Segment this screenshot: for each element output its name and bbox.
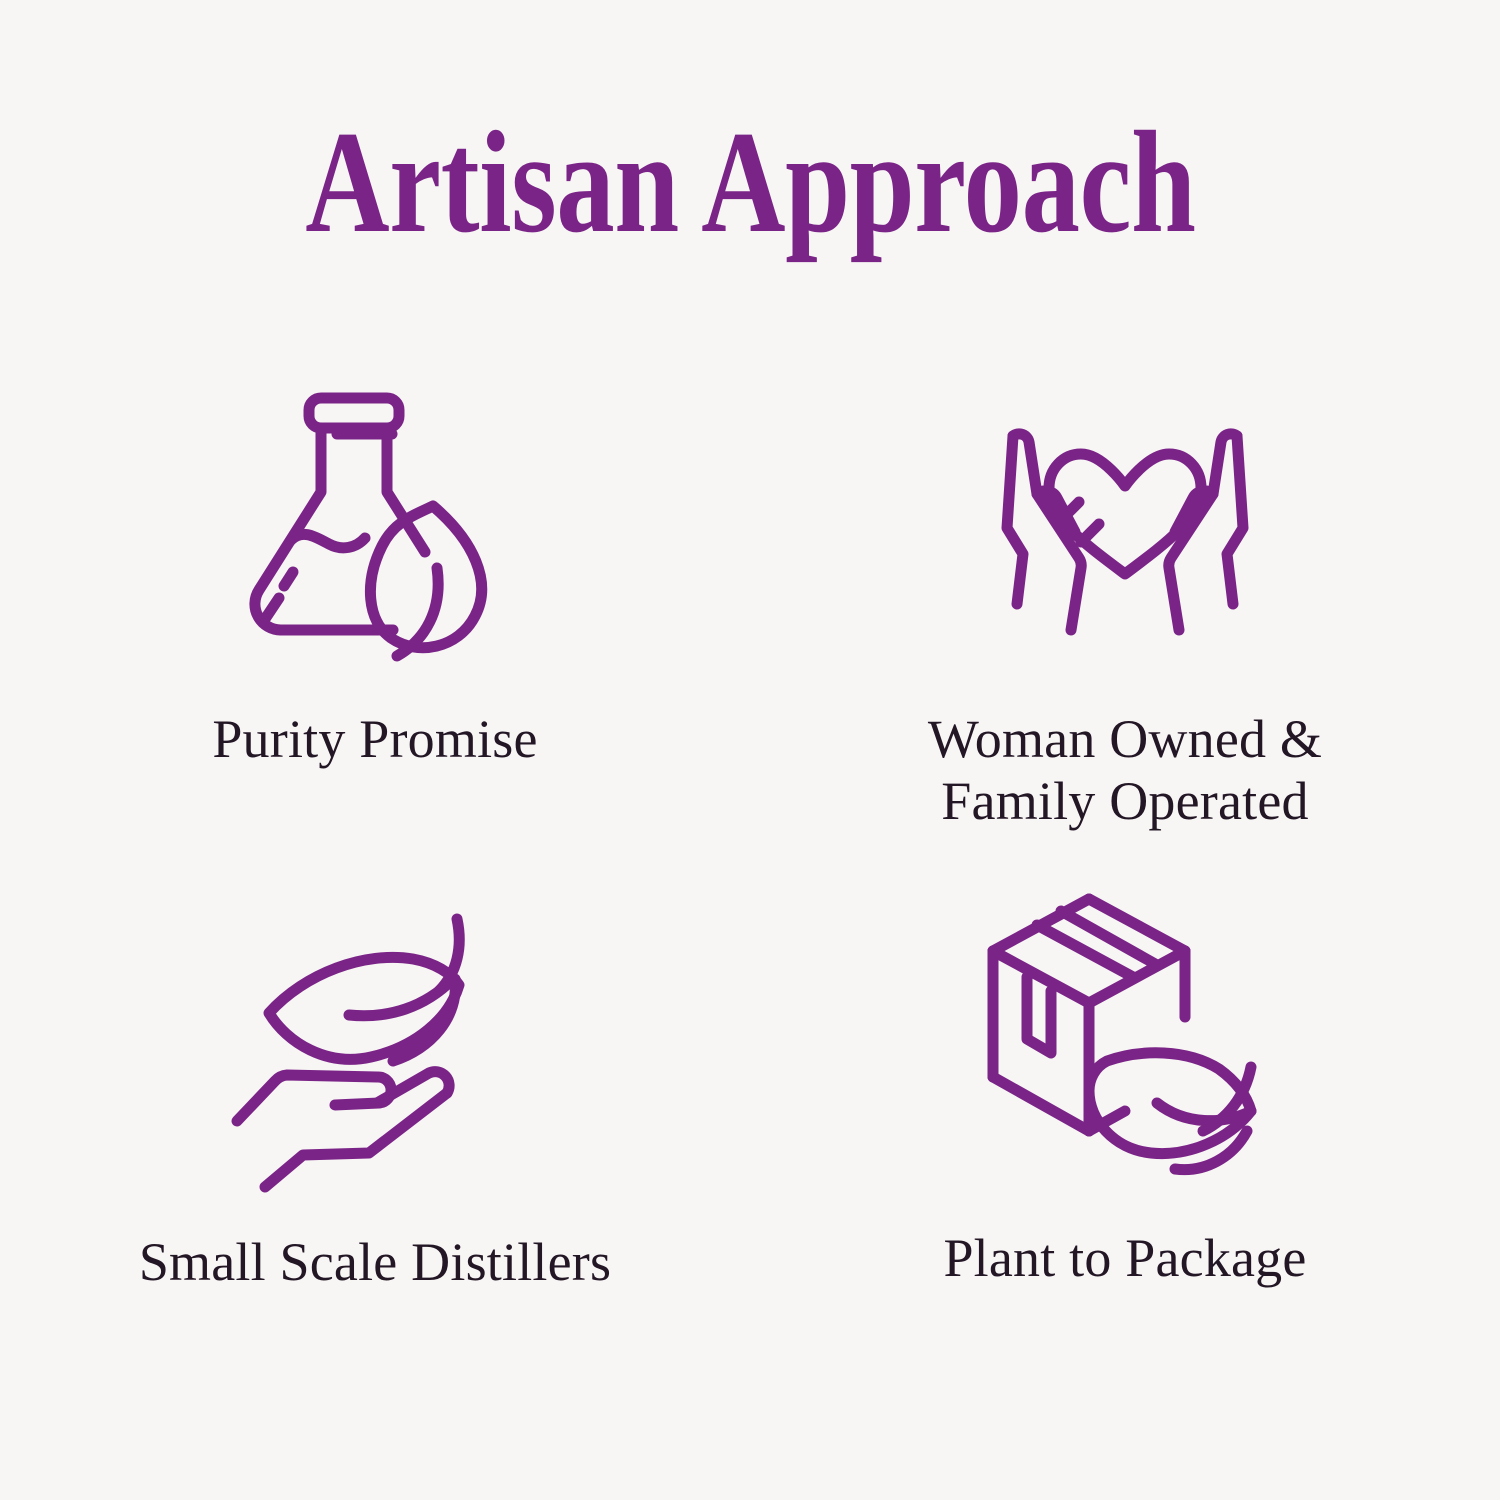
hands-holding-heart-icon [975, 378, 1275, 678]
feature-small-scale-distillers: Small Scale Distillers [0, 865, 750, 1370]
feature-woman-owned: Woman Owned & Family Operated [750, 360, 1500, 865]
feature-label-purity-promise: Purity Promise [212, 708, 537, 770]
hand-holding-leaf-icon [225, 895, 525, 1195]
feature-label-woman-owned: Woman Owned & Family Operated [928, 708, 1322, 832]
page-title: Artisan Approach [305, 108, 1195, 257]
artisan-approach-panel: Artisan Approach [0, 0, 1500, 1500]
feature-grid: Purity Promise [0, 360, 1500, 1370]
flask-leaf-icon [225, 376, 525, 676]
feature-label-plant-to-package: Plant to Package [943, 1227, 1306, 1289]
page-title-container: Artisan Approach [0, 108, 1500, 257]
box-leaf-icon [975, 889, 1275, 1189]
feature-purity-promise: Purity Promise [0, 360, 750, 865]
feature-plant-to-package: Plant to Package [750, 865, 1500, 1370]
feature-label-small-scale-distillers: Small Scale Distillers [139, 1231, 611, 1293]
